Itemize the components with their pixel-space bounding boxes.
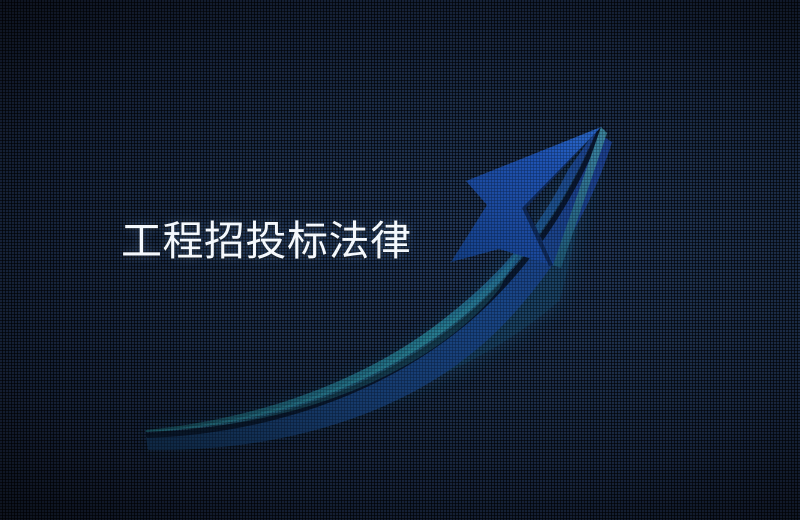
banner-canvas: 工程招投标法律 [0, 0, 800, 520]
page-title: 工程招投标法律 [121, 218, 412, 264]
